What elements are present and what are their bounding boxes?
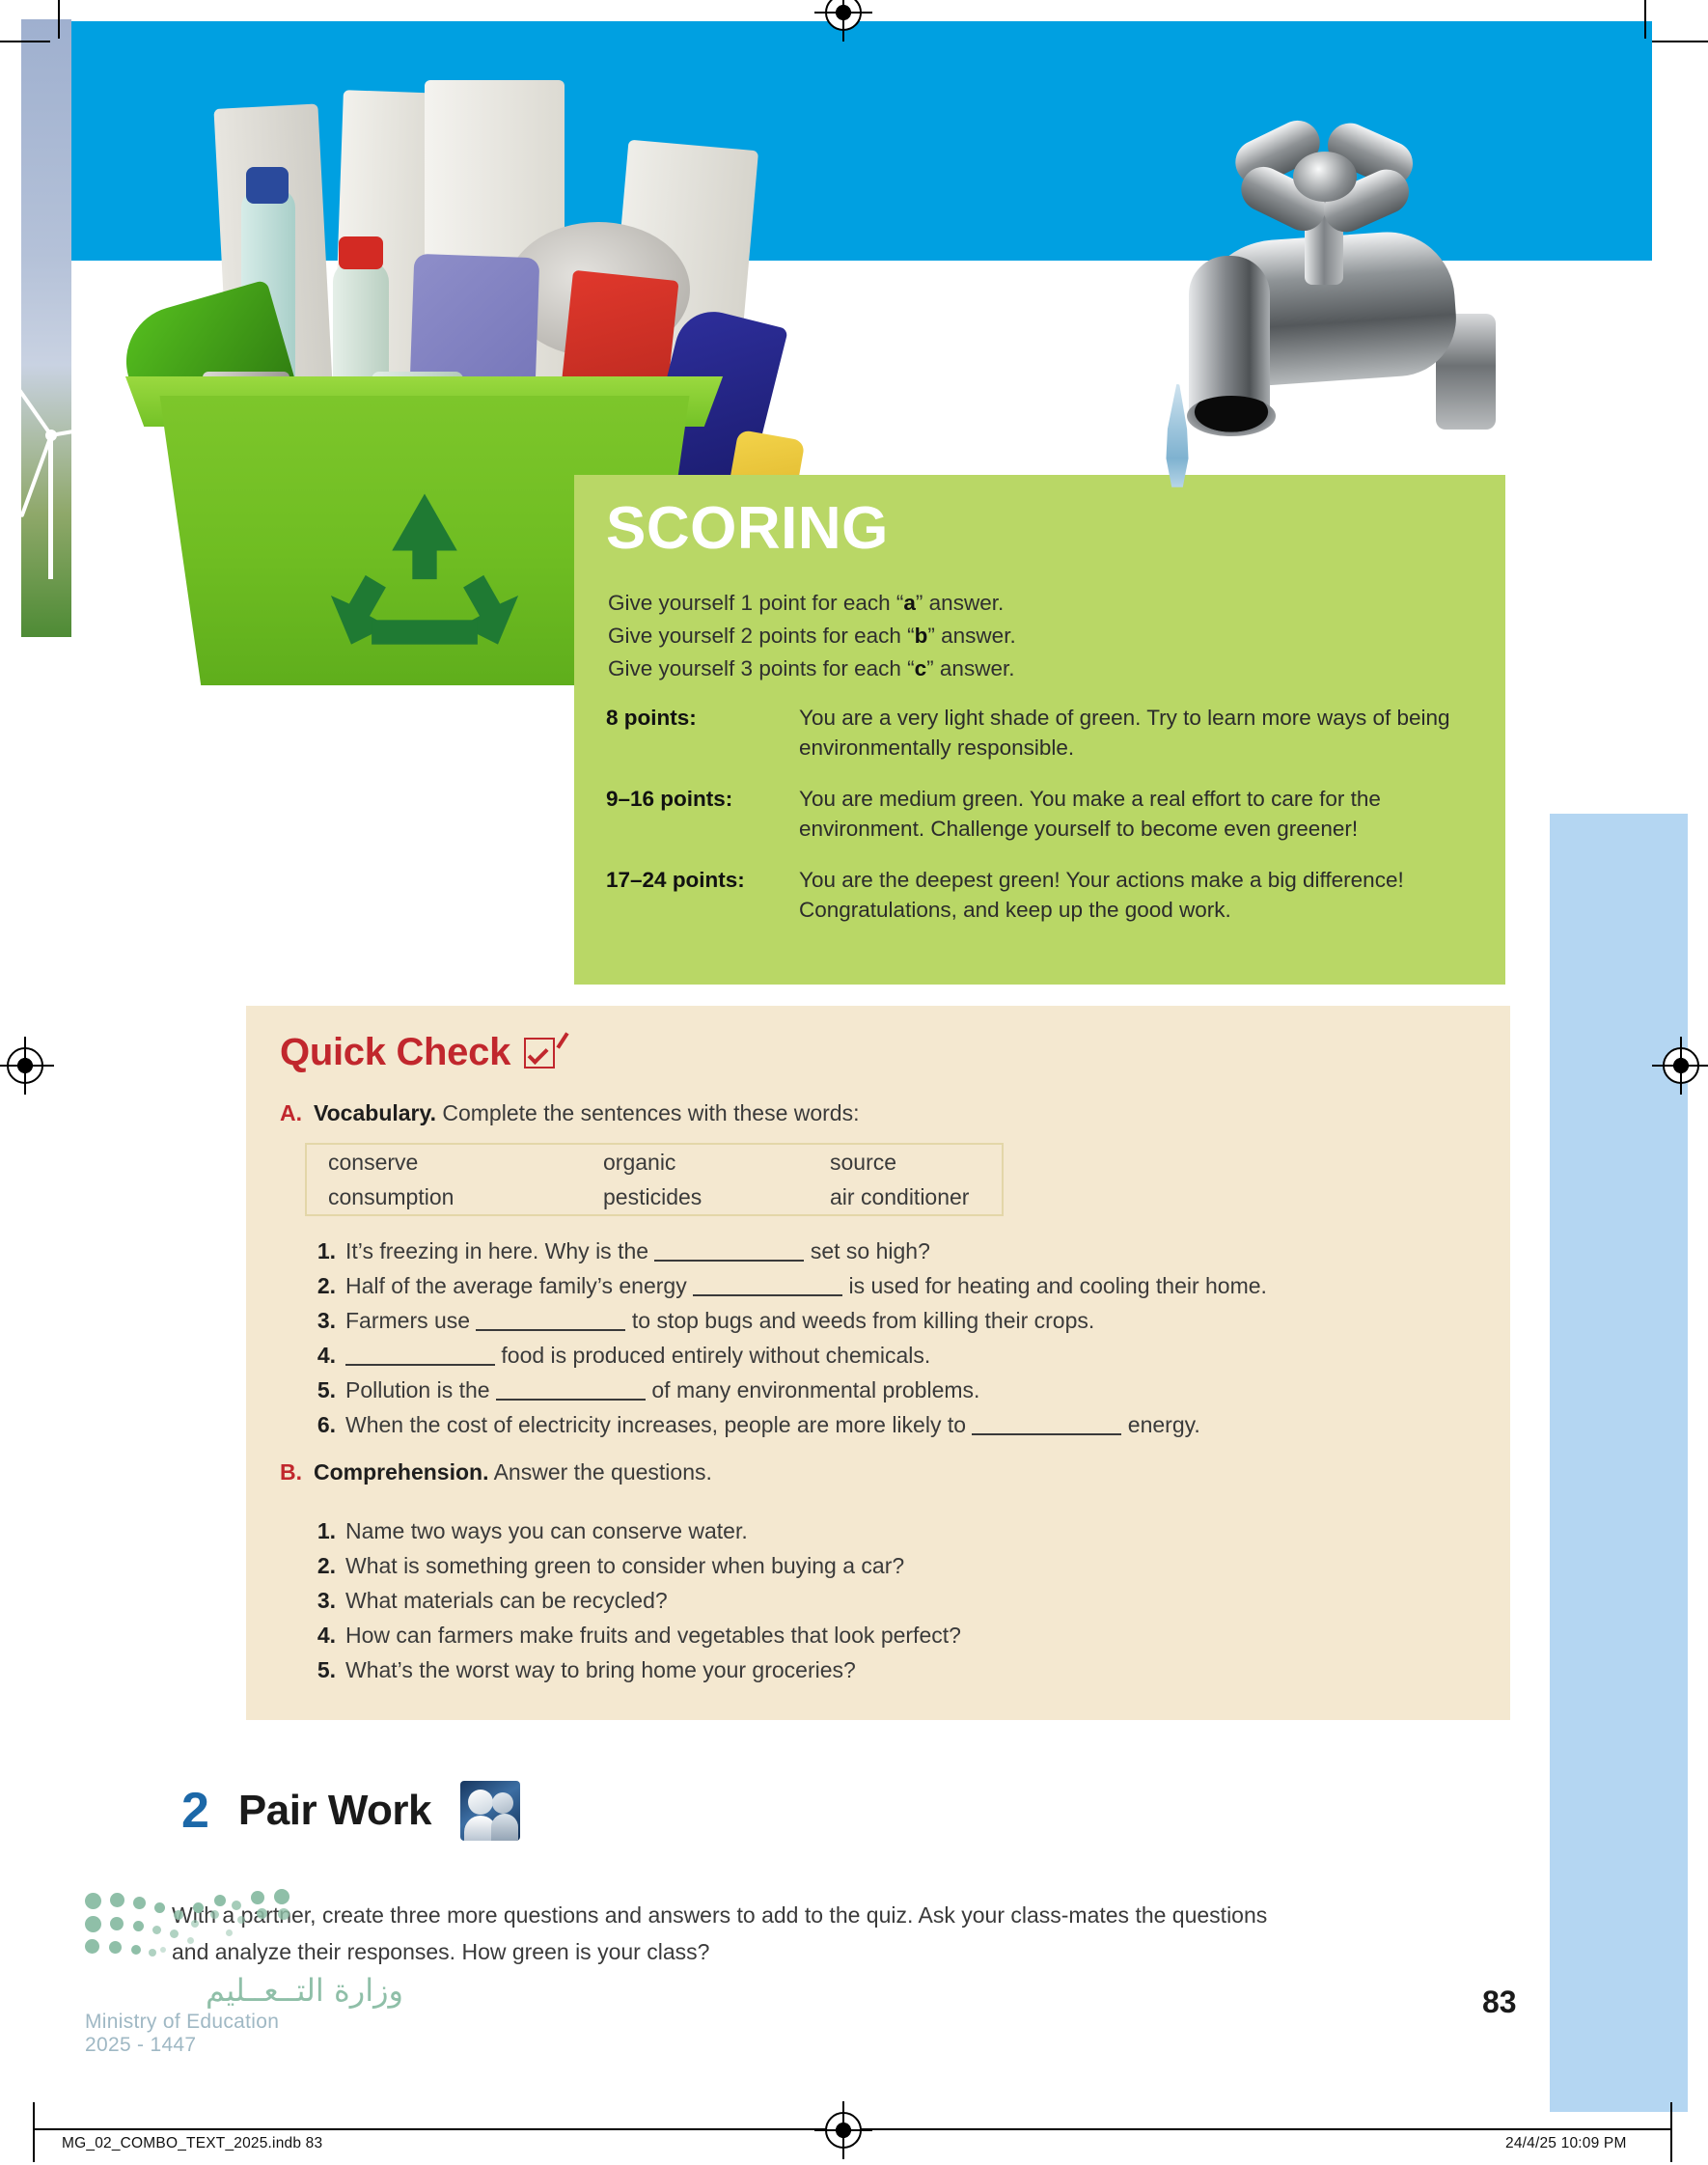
right-side-blue-bar <box>1550 814 1688 2112</box>
item-text-before: It’s freezing in here. Why is the <box>345 1238 648 1263</box>
item-text-after: food is produced entirely without chemic… <box>501 1343 930 1368</box>
section-a-heading: A. Vocabulary. Complete the sentences wi… <box>280 1100 860 1126</box>
item-text: What materials can be recycled? <box>345 1583 668 1618</box>
comprehension-question-list: 1.Name two ways you can conserve water. … <box>311 1513 1469 1687</box>
recycling-symbol-icon <box>318 486 531 669</box>
list-item: 6.When the cost of electricity increases… <box>311 1407 1469 1442</box>
scoring-intro-lines: Give yourself 1 point for each “a” answe… <box>608 587 1148 685</box>
item-number: 5. <box>311 1652 336 1687</box>
fill-in-blank[interactable] <box>654 1238 804 1262</box>
scoring-intro-line: Give yourself 2 points for each “b” answ… <box>608 620 1148 652</box>
pair-work-icon <box>460 1781 520 1841</box>
word-bank-item: organic <box>603 1145 830 1180</box>
section-a-rest: Complete the sentences with these words: <box>442 1100 859 1125</box>
list-item: 2.Half of the average family’s energy is… <box>311 1268 1469 1303</box>
pair-work-label: Pair Work <box>238 1790 431 1832</box>
item-text-after: of many environmental problems. <box>651 1377 979 1402</box>
trim-mark <box>58 0 60 39</box>
list-item: 4.How can farmers make fruits and vegeta… <box>311 1618 1469 1652</box>
item-number: 1. <box>311 1234 336 1268</box>
scoring-intro-line: Give yourself 1 point for each “a” answe… <box>608 587 1148 620</box>
word-bank-item: air conditioner <box>830 1180 980 1214</box>
list-item: 3.What materials can be recycled? <box>311 1583 1469 1618</box>
vocabulary-question-list: 1.It’s freezing in here. Why is the set … <box>311 1234 1469 1442</box>
intro-pre: Give yourself 2 points for each “ <box>608 624 915 648</box>
intro-post: ” answer. <box>916 591 1004 615</box>
fill-in-blank[interactable] <box>476 1308 625 1331</box>
scoring-range-row: 17–24 points: You are the deepest green!… <box>606 865 1474 925</box>
fill-in-blank[interactable] <box>345 1343 495 1366</box>
registration-mark-left <box>7 1047 43 1084</box>
item-text-before: Half of the average family’s energy <box>345 1273 687 1298</box>
fill-in-blank[interactable] <box>972 1412 1121 1435</box>
word-bank-box: conserve consumption organic pesticides … <box>305 1143 1004 1216</box>
list-item: 4. food is produced entirely without che… <box>311 1338 1469 1373</box>
item-number: 6. <box>311 1407 336 1442</box>
intro-post: ” answer. <box>927 624 1015 648</box>
scoring-title: SCORING <box>606 494 889 563</box>
scoring-range-text: You are the deepest green! Your actions … <box>799 865 1474 925</box>
item-text: Name two ways you can conserve water. <box>345 1513 748 1548</box>
fill-in-blank[interactable] <box>496 1377 646 1401</box>
ministry-name-english: Ministry of Education <box>85 2011 403 2034</box>
item-number: 3. <box>311 1303 336 1338</box>
registration-mark-bottom <box>825 2112 862 2149</box>
section-a-bold: Vocabulary. <box>314 1100 436 1125</box>
footer-timestamp: 24/4/25 10:09 PM <box>1505 2135 1627 2152</box>
list-item: 3.Farmers use to stop bugs and weeds fro… <box>311 1303 1469 1338</box>
scoring-range-text: You are medium green. You make a real ef… <box>799 784 1474 844</box>
section-b-rest: Answer the questions. <box>494 1459 712 1485</box>
trim-mark <box>33 2102 35 2162</box>
list-item: 1.Name two ways you can conserve water. <box>311 1513 1469 1548</box>
scoring-range-row: 8 points: You are a very light shade of … <box>606 703 1474 763</box>
section-b-letter: B. <box>280 1459 302 1485</box>
registration-mark-right <box>1663 1047 1699 1084</box>
intro-letter: c <box>915 656 927 680</box>
trim-mark <box>1670 2102 1672 2162</box>
trim-mark <box>0 41 50 42</box>
intro-letter: a <box>903 591 916 615</box>
scoring-range-text: You are a very light shade of green. Try… <box>799 703 1474 763</box>
list-item: 5.Pollution is the of many environmental… <box>311 1373 1469 1407</box>
item-text: What’s the worst way to bring home your … <box>345 1652 856 1687</box>
trim-mark <box>1652 41 1708 42</box>
quick-check-title: Quick Check <box>280 1031 510 1074</box>
item-number: 1. <box>311 1513 336 1548</box>
list-item: 2.What is something green to consider wh… <box>311 1548 1469 1583</box>
item-text-before: Farmers use <box>345 1308 470 1333</box>
scoring-range-label: 8 points: <box>606 703 799 763</box>
list-item: 1.It’s freezing in here. Why is the set … <box>311 1234 1469 1268</box>
trim-mark <box>1644 0 1646 39</box>
ministry-years: 2025 - 1447 <box>85 2034 403 2057</box>
item-text-before: When the cost of electricity increases, … <box>345 1412 966 1437</box>
word-bank-column: organic pesticides <box>603 1145 830 1214</box>
wind-turbine-photo <box>21 19 71 637</box>
item-number: 4. <box>311 1618 336 1652</box>
intro-post: ” answer. <box>926 656 1014 680</box>
page-number: 83 <box>1482 1985 1517 2020</box>
section-b-bold: Comprehension. <box>314 1459 488 1485</box>
item-number: 3. <box>311 1583 336 1618</box>
ministry-name-arabic: وزارة التــعــليم <box>85 1972 403 2009</box>
word-bank-item: consumption <box>328 1180 603 1214</box>
word-bank-item: pesticides <box>603 1180 830 1214</box>
intro-pre: Give yourself 1 point for each “ <box>608 591 903 615</box>
pair-work-number: 2 <box>181 1786 209 1836</box>
intro-letter: b <box>915 624 928 648</box>
scoring-range-label: 17–24 points: <box>606 865 799 925</box>
item-text-after: to stop bugs and weeds from killing thei… <box>632 1308 1094 1333</box>
item-text-after: is used for heating and cooling their ho… <box>849 1273 1267 1298</box>
intro-pre: Give yourself 3 points for each “ <box>608 656 915 680</box>
scoring-ranges: 8 points: You are a very light shade of … <box>606 703 1474 946</box>
item-number: 2. <box>311 1548 336 1583</box>
faucet-photo <box>1081 39 1496 492</box>
section-b-heading: B. Comprehension. Answer the questions. <box>280 1459 712 1485</box>
scoring-range-label: 9–16 points: <box>606 784 799 844</box>
list-item: 5.What’s the worst way to bring home you… <box>311 1652 1469 1687</box>
fill-in-blank[interactable] <box>693 1273 842 1296</box>
word-bank-item: conserve <box>328 1145 603 1180</box>
section-a-letter: A. <box>280 1100 302 1126</box>
pair-work-heading: 2 Pair Work <box>181 1781 520 1841</box>
item-text-after: energy. <box>1128 1412 1200 1437</box>
checkmark-icon <box>524 1038 555 1069</box>
item-number: 4. <box>311 1338 336 1373</box>
item-text: What is something green to consider when… <box>345 1548 904 1583</box>
word-bank-item: source <box>830 1145 980 1180</box>
item-number: 2. <box>311 1268 336 1303</box>
quick-check-title-row: Quick Check <box>280 1031 555 1074</box>
item-text: How can farmers make fruits and vegetabl… <box>345 1618 961 1652</box>
ministry-dots-icon <box>85 1887 307 1962</box>
textbook-page: SCORING Give yourself 1 point for each “… <box>0 0 1708 2165</box>
item-text-after: set so high? <box>811 1238 930 1263</box>
item-text-before: Pollution is the <box>345 1377 490 1402</box>
footer-filename: MG_02_COMBO_TEXT_2025.indb 83 <box>62 2135 322 2152</box>
word-bank-column: conserve consumption <box>328 1145 603 1214</box>
item-number: 5. <box>311 1373 336 1407</box>
scoring-intro-line: Give yourself 3 points for each “c” answ… <box>608 652 1148 685</box>
scoring-range-row: 9–16 points: You are medium green. You m… <box>606 784 1474 844</box>
ministry-logo: وزارة التــعــليم Ministry of Education … <box>85 1887 403 2057</box>
word-bank-column: source air conditioner <box>830 1145 980 1214</box>
